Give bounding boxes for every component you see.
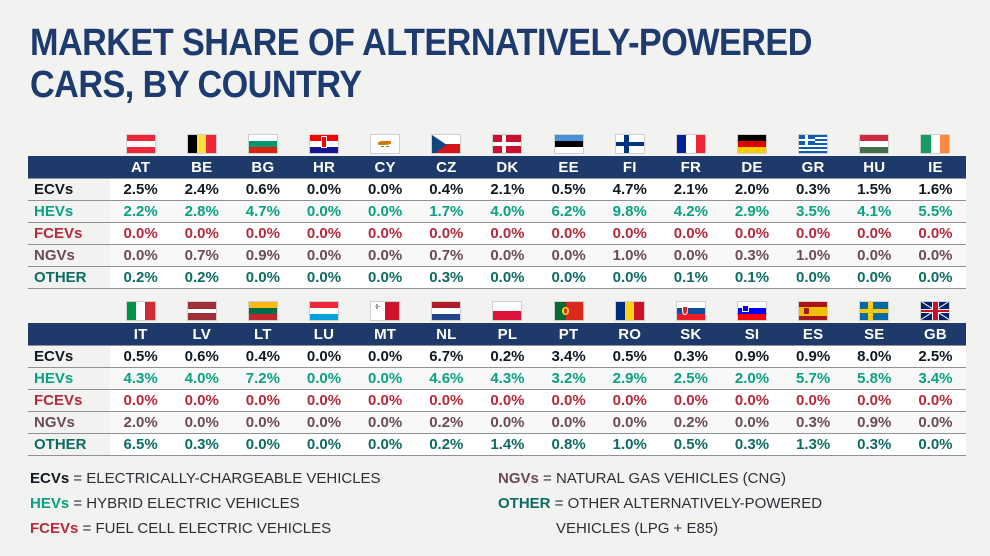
cell-fcevs-ie: 0.0%: [905, 223, 966, 245]
flag-cyprus-icon: [370, 134, 400, 154]
country-code-mt: MT: [355, 323, 416, 346]
cell-other-hr: 0.0%: [293, 267, 354, 289]
legend-item-fcevs: FCEVs = FUEL CELL ELECTRIC VEHICLES: [30, 516, 381, 541]
cell-other-ro: 1.0%: [599, 434, 660, 456]
flag-netherlands-icon: [431, 301, 461, 321]
flag-cell-lv: [171, 293, 232, 323]
header-label-cell: [28, 323, 110, 346]
cell-ngvs-sk: 0.2%: [660, 412, 721, 434]
cell-hevs-pl: 4.3%: [477, 368, 538, 390]
country-code-gb: GB: [905, 323, 966, 346]
flag-croatia-icon: [309, 134, 339, 154]
cell-ecvs-dk: 2.1%: [477, 179, 538, 201]
cell-ecvs-mt: 0.0%: [355, 346, 416, 368]
cell-ngvs-lv: 0.0%: [171, 412, 232, 434]
country-code-lv: LV: [171, 323, 232, 346]
cell-hevs-be: 2.8%: [171, 201, 232, 223]
cell-fcevs-hu: 0.0%: [844, 223, 905, 245]
cell-other-pt: 0.8%: [538, 434, 599, 456]
flag-cell-ie: [905, 126, 966, 156]
cell-other-de: 0.1%: [721, 267, 782, 289]
country-code-pt: PT: [538, 323, 599, 346]
cell-fcevs-fr: 0.0%: [660, 223, 721, 245]
country-code-cz: CZ: [416, 156, 477, 179]
country-code-de: DE: [721, 156, 782, 179]
cell-hevs-gb: 3.4%: [905, 368, 966, 390]
legend-abbr-ecvs: ECVs: [30, 470, 69, 487]
legend-abbr-fcevs: FCEVs: [30, 520, 78, 537]
flag-poland-icon: [492, 301, 522, 321]
flag-cell-bg: [232, 126, 293, 156]
cell-other-lv: 0.3%: [171, 434, 232, 456]
cell-hevs-ro: 2.9%: [599, 368, 660, 390]
cell-other-gb: 0.0%: [905, 434, 966, 456]
cell-ngvs-it: 2.0%: [110, 412, 171, 434]
row-label-ngvs: NGVs: [28, 245, 110, 267]
legend-abbr-hevs: HEVs: [30, 495, 69, 512]
cell-other-lt: 0.0%: [232, 434, 293, 456]
country-code-ie: IE: [905, 156, 966, 179]
cell-ngvs-bg: 0.9%: [232, 245, 293, 267]
cell-fcevs-at: 0.0%: [110, 223, 171, 245]
country-header-row: ATBEBGHRCYCZDKEEFIFRDEGRHUIE: [28, 156, 966, 179]
cell-fcevs-de: 0.0%: [721, 223, 782, 245]
cell-ngvs-de: 0.3%: [721, 245, 782, 267]
flag-cell-mt: [355, 293, 416, 323]
cell-hevs-fi: 9.8%: [599, 201, 660, 223]
cell-other-es: 1.3%: [783, 434, 844, 456]
table-bottom-rule: [28, 456, 966, 457]
flag-cell-dk: [477, 126, 538, 156]
cell-ngvs-es: 0.3%: [783, 412, 844, 434]
country-header-row: ITLVLTLUMTNLPLPTROSKSIESSEGB: [28, 323, 966, 346]
cell-other-cy: 0.0%: [355, 267, 416, 289]
market-share-table-group-1: ATBEBGHRCYCZDKEEFIFRDEGRHUIEECVs2.5%2.4%…: [28, 126, 966, 289]
cell-hevs-cz: 1.7%: [416, 201, 477, 223]
legend-item-ecvs: ECVs = ELECTRICALLY-CHARGEABLE VEHICLES: [30, 466, 381, 491]
cell-hevs-hr: 0.0%: [293, 201, 354, 223]
cell-ecvs-lv: 0.6%: [171, 346, 232, 368]
market-share-table: ITLVLTLUMTNLPLPTROSKSIESSEGBECVs0.5%0.6%…: [28, 293, 966, 456]
country-code-es: ES: [783, 323, 844, 346]
row-label-other: OTHER: [28, 267, 110, 289]
country-code-hu: HU: [844, 156, 905, 179]
cell-other-ee: 0.0%: [538, 267, 599, 289]
flag-cell-ro: [599, 293, 660, 323]
cell-fcevs-cz: 0.0%: [416, 223, 477, 245]
cell-hevs-it: 4.3%: [110, 368, 171, 390]
flag-slovakia-icon: [676, 301, 706, 321]
flag-row: [28, 293, 966, 323]
flag-france-icon: [676, 134, 706, 154]
cell-ecvs-es: 0.9%: [783, 346, 844, 368]
infographic-page: MARKET SHARE OF ALTERNATIVELY-POWERED CA…: [0, 0, 990, 556]
country-code-hr: HR: [293, 156, 354, 179]
country-code-it: IT: [110, 323, 171, 346]
flag-cell-it: [110, 293, 171, 323]
flag-cell-pt: [538, 293, 599, 323]
cell-fcevs-be: 0.0%: [171, 223, 232, 245]
legend-item-hevs: HEVs = HYBRID ELECTRIC VEHICLES: [30, 491, 381, 516]
market-share-table-group-2: ITLVLTLUMTNLPLPTROSKSIESSEGBECVs0.5%0.6%…: [28, 293, 966, 456]
flag-cell-fi: [599, 126, 660, 156]
cell-ngvs-gb: 0.0%: [905, 412, 966, 434]
flag-hungary-icon: [859, 134, 889, 154]
cell-other-bg: 0.0%: [232, 267, 293, 289]
cell-ecvs-pl: 0.2%: [477, 346, 538, 368]
cell-ecvs-at: 2.5%: [110, 179, 171, 201]
cell-ecvs-bg: 0.6%: [232, 179, 293, 201]
cell-ecvs-sk: 0.3%: [660, 346, 721, 368]
cell-fcevs-sk: 0.0%: [660, 390, 721, 412]
flag-lithuania-icon: [248, 301, 278, 321]
legend-abbr-ngvs: NGVs: [498, 470, 539, 487]
cell-fcevs-se: 0.0%: [844, 390, 905, 412]
cell-ecvs-hr: 0.0%: [293, 179, 354, 201]
flag-belgium-icon: [187, 134, 217, 154]
cell-ecvs-gr: 0.3%: [783, 179, 844, 201]
cell-hevs-at: 2.2%: [110, 201, 171, 223]
cell-fcevs-si: 0.0%: [721, 390, 782, 412]
flag-spain-icon: [798, 301, 828, 321]
flag-romania-icon: [615, 301, 645, 321]
cell-other-cz: 0.3%: [416, 267, 477, 289]
cell-hevs-lu: 0.0%: [293, 368, 354, 390]
flag-bulgaria-icon: [248, 134, 278, 154]
cell-ecvs-pt: 3.4%: [538, 346, 599, 368]
country-code-nl: NL: [416, 323, 477, 346]
table-row-fcevs: FCEVs0.0%0.0%0.0%0.0%0.0%0.0%0.0%0.0%0.0…: [28, 223, 966, 245]
country-code-at: AT: [110, 156, 171, 179]
cell-hevs-se: 5.8%: [844, 368, 905, 390]
legend-item-other-continuation: VEHICLES (LPG + E85): [498, 516, 822, 541]
country-code-ee: EE: [538, 156, 599, 179]
cell-other-si: 0.3%: [721, 434, 782, 456]
cell-ecvs-hu: 1.5%: [844, 179, 905, 201]
country-code-pl: PL: [477, 323, 538, 346]
flag-cell-gr: [783, 126, 844, 156]
cell-ecvs-lt: 0.4%: [232, 346, 293, 368]
country-code-be: BE: [171, 156, 232, 179]
row-label-fcevs: FCEVs: [28, 223, 110, 245]
cell-fcevs-lu: 0.0%: [293, 390, 354, 412]
cell-ecvs-ee: 0.5%: [538, 179, 599, 201]
cell-ecvs-fi: 4.7%: [599, 179, 660, 201]
cell-hevs-dk: 4.0%: [477, 201, 538, 223]
cell-ngvs-ro: 0.0%: [599, 412, 660, 434]
cell-ngvs-ie: 0.0%: [905, 245, 966, 267]
cell-fcevs-mt: 0.0%: [355, 390, 416, 412]
flag-cell-hu: [844, 126, 905, 156]
cell-fcevs-fi: 0.0%: [599, 223, 660, 245]
cell-ngvs-lu: 0.0%: [293, 412, 354, 434]
cell-ngvs-dk: 0.0%: [477, 245, 538, 267]
flag-greece-icon: [798, 134, 828, 154]
flag-row-spacer: [28, 126, 110, 156]
country-code-si: SI: [721, 323, 782, 346]
flag-slovenia-icon: [737, 301, 767, 321]
cell-ecvs-si: 0.9%: [721, 346, 782, 368]
cell-ngvs-lt: 0.0%: [232, 412, 293, 434]
table-row-hevs: HEVs4.3%4.0%7.2%0.0%0.0%4.6%4.3%3.2%2.9%…: [28, 368, 966, 390]
table-row-ecvs: ECVs0.5%0.6%0.4%0.0%0.0%6.7%0.2%3.4%0.5%…: [28, 346, 966, 368]
cell-hevs-si: 2.0%: [721, 368, 782, 390]
flag-cell-lu: [293, 293, 354, 323]
cell-ecvs-ie: 1.6%: [905, 179, 966, 201]
cell-ecvs-cy: 0.0%: [355, 179, 416, 201]
cell-hevs-lt: 7.2%: [232, 368, 293, 390]
row-label-ngvs: NGVs: [28, 412, 110, 434]
row-label-fcevs: FCEVs: [28, 390, 110, 412]
row-label-ecvs: ECVs: [28, 346, 110, 368]
country-code-gr: GR: [783, 156, 844, 179]
cell-hevs-ee: 6.2%: [538, 201, 599, 223]
flag-malta-icon: [370, 301, 400, 321]
country-code-se: SE: [844, 323, 905, 346]
cell-ngvs-se: 0.9%: [844, 412, 905, 434]
cell-fcevs-nl: 0.0%: [416, 390, 477, 412]
table-row-hevs: HEVs2.2%2.8%4.7%0.0%0.0%1.7%4.0%6.2%9.8%…: [28, 201, 966, 223]
cell-fcevs-gb: 0.0%: [905, 390, 966, 412]
cell-other-dk: 0.0%: [477, 267, 538, 289]
cell-ecvs-de: 2.0%: [721, 179, 782, 201]
cell-other-gr: 0.0%: [783, 267, 844, 289]
legend-abbr-other: OTHER: [498, 495, 551, 512]
flag-sweden-icon: [859, 301, 889, 321]
cell-hevs-hu: 4.1%: [844, 201, 905, 223]
header-label-cell: [28, 156, 110, 179]
table-row-other: OTHER0.2%0.2%0.0%0.0%0.0%0.3%0.0%0.0%0.0…: [28, 267, 966, 289]
cell-ecvs-nl: 6.7%: [416, 346, 477, 368]
flag-cell-se: [844, 293, 905, 323]
flag-cell-fr: [660, 126, 721, 156]
country-code-cy: CY: [355, 156, 416, 179]
cell-hevs-de: 2.9%: [721, 201, 782, 223]
row-label-other: OTHER: [28, 434, 110, 456]
flag-austria-icon: [126, 134, 156, 154]
cell-ngvs-gr: 1.0%: [783, 245, 844, 267]
table-row-ecvs: ECVs2.5%2.4%0.6%0.0%0.0%0.4%2.1%0.5%4.7%…: [28, 179, 966, 201]
table-row-fcevs: FCEVs0.0%0.0%0.0%0.0%0.0%0.0%0.0%0.0%0.0…: [28, 390, 966, 412]
cell-hevs-fr: 4.2%: [660, 201, 721, 223]
bottom-rule-cell: [28, 456, 966, 457]
flag-czechia-icon: [431, 134, 461, 154]
cell-ecvs-se: 8.0%: [844, 346, 905, 368]
country-code-lt: LT: [232, 323, 293, 346]
cell-hevs-sk: 2.5%: [660, 368, 721, 390]
row-label-ecvs: ECVs: [28, 179, 110, 201]
cell-fcevs-ee: 0.0%: [538, 223, 599, 245]
legend-item-ngvs: NGVs = NATURAL GAS VEHICLES (CNG): [498, 466, 822, 491]
flag-italy-icon: [126, 301, 156, 321]
legend-text-hevs: = HYBRID ELECTRIC VEHICLES: [69, 495, 299, 512]
country-code-dk: DK: [477, 156, 538, 179]
cell-hevs-mt: 0.0%: [355, 368, 416, 390]
flag-latvia-icon: [187, 301, 217, 321]
flag-cell-ee: [538, 126, 599, 156]
cell-fcevs-it: 0.0%: [110, 390, 171, 412]
cell-ngvs-ee: 0.0%: [538, 245, 599, 267]
cell-ngvs-cy: 0.0%: [355, 245, 416, 267]
cell-fcevs-lv: 0.0%: [171, 390, 232, 412]
cell-ecvs-ro: 0.5%: [599, 346, 660, 368]
flag-cell-cy: [355, 126, 416, 156]
cell-ecvs-be: 2.4%: [171, 179, 232, 201]
legend-text-other: = OTHER ALTERNATIVELY-POWERED: [551, 495, 823, 512]
flag-portugal-icon: [554, 301, 584, 321]
cell-ngvs-hu: 0.0%: [844, 245, 905, 267]
legend-text-fcevs: = FUEL CELL ELECTRIC VEHICLES: [78, 520, 331, 537]
flag-cell-lt: [232, 293, 293, 323]
cell-ngvs-fr: 0.0%: [660, 245, 721, 267]
cell-fcevs-pl: 0.0%: [477, 390, 538, 412]
cell-fcevs-pt: 0.0%: [538, 390, 599, 412]
legend-text-other-continuation: VEHICLES (LPG + E85): [498, 516, 822, 541]
cell-fcevs-bg: 0.0%: [232, 223, 293, 245]
cell-other-fr: 0.1%: [660, 267, 721, 289]
flag-cell-cz: [416, 126, 477, 156]
flag-estonia-icon: [554, 134, 584, 154]
flag-cell-de: [721, 126, 782, 156]
flag-row: [28, 126, 966, 156]
flag-cell-sk: [660, 293, 721, 323]
cell-fcevs-dk: 0.0%: [477, 223, 538, 245]
cell-ngvs-fi: 1.0%: [599, 245, 660, 267]
flag-united-kingdom-icon: [920, 301, 950, 321]
cell-hevs-es: 5.7%: [783, 368, 844, 390]
cell-hevs-pt: 3.2%: [538, 368, 599, 390]
cell-ngvs-si: 0.0%: [721, 412, 782, 434]
legend-left: ECVs = ELECTRICALLY-CHARGEABLE VEHICLESH…: [30, 466, 381, 541]
flag-cell-es: [783, 293, 844, 323]
cell-ngvs-at: 0.0%: [110, 245, 171, 267]
cell-hevs-lv: 4.0%: [171, 368, 232, 390]
cell-ngvs-pl: 0.0%: [477, 412, 538, 434]
table-row-ngvs: NGVs0.0%0.7%0.9%0.0%0.0%0.7%0.0%0.0%1.0%…: [28, 245, 966, 267]
cell-ecvs-cz: 0.4%: [416, 179, 477, 201]
cell-other-se: 0.3%: [844, 434, 905, 456]
country-code-fi: FI: [599, 156, 660, 179]
cell-hevs-gr: 3.5%: [783, 201, 844, 223]
country-code-ro: RO: [599, 323, 660, 346]
cell-ecvs-lu: 0.0%: [293, 346, 354, 368]
country-code-bg: BG: [232, 156, 293, 179]
cell-hevs-ie: 5.5%: [905, 201, 966, 223]
table-row-ngvs: NGVs2.0%0.0%0.0%0.0%0.0%0.2%0.0%0.0%0.0%…: [28, 412, 966, 434]
cell-other-it: 6.5%: [110, 434, 171, 456]
cell-ngvs-nl: 0.2%: [416, 412, 477, 434]
cell-fcevs-ro: 0.0%: [599, 390, 660, 412]
cell-other-pl: 1.4%: [477, 434, 538, 456]
cell-other-ie: 0.0%: [905, 267, 966, 289]
flag-cell-gb: [905, 293, 966, 323]
cell-hevs-nl: 4.6%: [416, 368, 477, 390]
bottom-rule-cell: [28, 289, 966, 290]
market-share-table: ATBEBGHRCYCZDKEEFIFRDEGRHUIEECVs2.5%2.4%…: [28, 126, 966, 289]
cell-hevs-bg: 4.7%: [232, 201, 293, 223]
cell-fcevs-es: 0.0%: [783, 390, 844, 412]
row-label-hevs: HEVs: [28, 201, 110, 223]
table-bottom-rule: [28, 289, 966, 290]
page-title: MARKET SHARE OF ALTERNATIVELY-POWERED CA…: [30, 22, 867, 106]
legend-text-ngvs: = NATURAL GAS VEHICLES (CNG): [539, 470, 786, 487]
cell-ngvs-hr: 0.0%: [293, 245, 354, 267]
cell-hevs-cy: 0.0%: [355, 201, 416, 223]
cell-other-be: 0.2%: [171, 267, 232, 289]
flag-ireland-icon: [920, 134, 950, 154]
cell-ecvs-gb: 2.5%: [905, 346, 966, 368]
table-row-other: OTHER6.5%0.3%0.0%0.0%0.0%0.2%1.4%0.8%1.0…: [28, 434, 966, 456]
flag-cell-hr: [293, 126, 354, 156]
flag-denmark-icon: [492, 134, 522, 154]
cell-other-mt: 0.0%: [355, 434, 416, 456]
cell-ecvs-it: 0.5%: [110, 346, 171, 368]
cell-ngvs-pt: 0.0%: [538, 412, 599, 434]
cell-other-sk: 0.5%: [660, 434, 721, 456]
cell-fcevs-lt: 0.0%: [232, 390, 293, 412]
cell-other-lu: 0.0%: [293, 434, 354, 456]
flag-cell-si: [721, 293, 782, 323]
cell-other-fi: 0.0%: [599, 267, 660, 289]
legend-right: NGVs = NATURAL GAS VEHICLES (CNG)OTHER =…: [498, 466, 822, 541]
cell-ngvs-mt: 0.0%: [355, 412, 416, 434]
cell-other-hu: 0.0%: [844, 267, 905, 289]
cell-ecvs-fr: 2.1%: [660, 179, 721, 201]
row-label-hevs: HEVs: [28, 368, 110, 390]
cell-ngvs-be: 0.7%: [171, 245, 232, 267]
cell-fcevs-gr: 0.0%: [783, 223, 844, 245]
flag-row-spacer: [28, 293, 110, 323]
flag-cell-be: [171, 126, 232, 156]
flag-germany-icon: [737, 134, 767, 154]
flag-finland-icon: [615, 134, 645, 154]
flag-cell-nl: [416, 293, 477, 323]
country-code-sk: SK: [660, 323, 721, 346]
flag-cell-pl: [477, 293, 538, 323]
cell-other-at: 0.2%: [110, 267, 171, 289]
country-code-lu: LU: [293, 323, 354, 346]
cell-other-nl: 0.2%: [416, 434, 477, 456]
cell-fcevs-hr: 0.0%: [293, 223, 354, 245]
cell-fcevs-cy: 0.0%: [355, 223, 416, 245]
country-code-fr: FR: [660, 156, 721, 179]
flag-luxembourg-icon: [309, 301, 339, 321]
cell-ngvs-cz: 0.7%: [416, 245, 477, 267]
flag-cell-at: [110, 126, 171, 156]
legend-text-ecvs: = ELECTRICALLY-CHARGEABLE VEHICLES: [69, 470, 380, 487]
legend-item-other: OTHER = OTHER ALTERNATIVELY-POWERED: [498, 491, 822, 516]
